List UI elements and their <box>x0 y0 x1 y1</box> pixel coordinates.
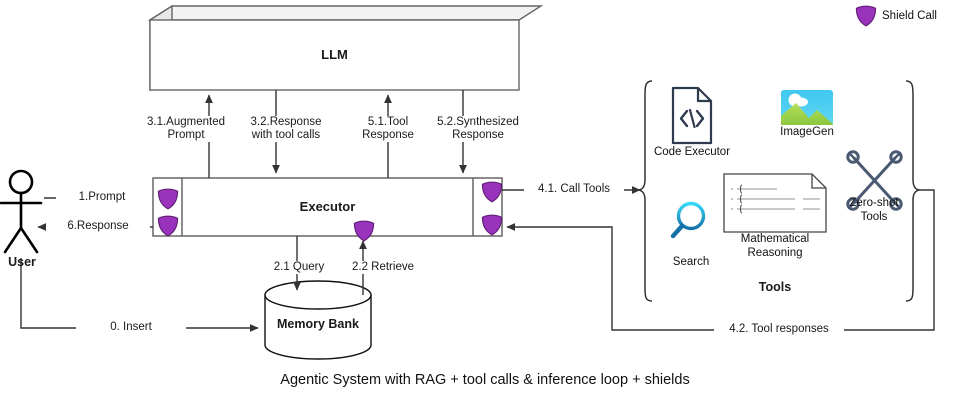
math-document-icon <box>724 174 826 232</box>
user-label: User <box>0 256 44 269</box>
edge-label-tool-response: 5.1.Tool Response <box>348 116 428 142</box>
edge-label-augmented-prompt: 3.1.Augmented Prompt <box>141 116 231 142</box>
shield-icon-executor-center <box>354 221 373 241</box>
edge-label-tool-responses: 4.2. Tool responses <box>714 323 844 336</box>
edge-label-response: 6.Response <box>46 220 150 233</box>
tool-label-code-executor: Code Executor <box>645 146 739 160</box>
edge-label-prompt: 1.Prompt <box>56 191 148 204</box>
tool-label-zero-shot-tools: Zero-shot Tools <box>836 197 912 224</box>
diagram-caption: Agentic System with RAG + tool calls & i… <box>0 372 970 388</box>
edge-label-insert: 0. Insert <box>76 321 186 334</box>
memory-bank-label: Memory Bank <box>265 318 371 331</box>
executor-label: Executor <box>182 200 473 213</box>
code-document-icon <box>673 88 711 143</box>
tools-group-label: Tools <box>720 281 830 294</box>
edge-label-query: 2.1 Query <box>258 261 340 274</box>
magnifier-icon <box>673 204 704 237</box>
edge-label-response-tool-calls: 3.2.Response with tool calls <box>234 116 338 142</box>
edge-label-synthesized-response: 5.2.Synthesized Response <box>428 116 528 142</box>
image-photo-icon <box>781 90 833 125</box>
edge-label-retrieve: 2.2 Retrieve <box>337 261 429 274</box>
user-actor-icon <box>1 171 41 252</box>
shield-icon-legend <box>856 6 875 26</box>
legend-label-shield-call: Shield Call <box>882 10 970 24</box>
llm-label: LLM <box>150 48 519 61</box>
edge-label-call-tools: 4.1. Call Tools <box>524 183 624 196</box>
diagram-canvas: LLM Executor Memory Bank User Tools 1.Pr… <box>0 0 970 411</box>
tool-label-search: Search <box>661 256 721 270</box>
diagram-vector-layer <box>0 0 970 411</box>
tool-label-image-gen: ImageGen <box>767 126 847 140</box>
tool-label-mathematical-reasoning: Mathematical Reasoning <box>721 233 829 260</box>
